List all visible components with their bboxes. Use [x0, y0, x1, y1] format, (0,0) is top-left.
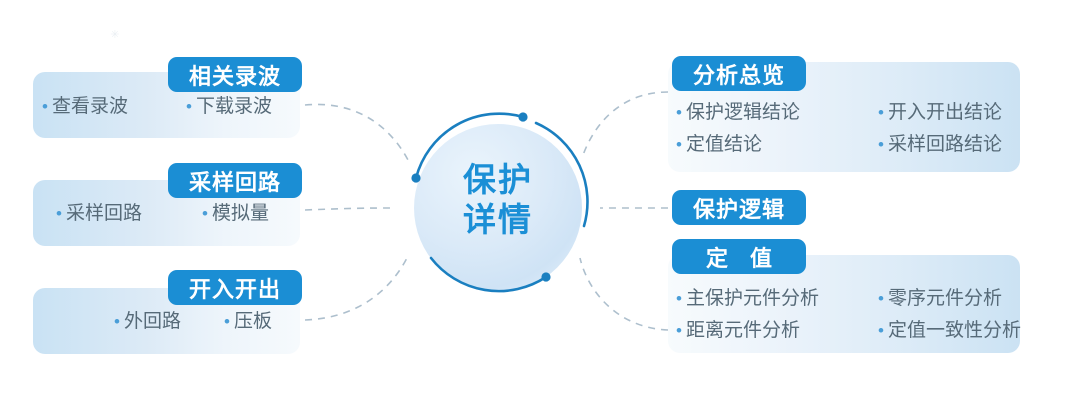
list-item-label: 压板 — [234, 307, 272, 337]
infographic-canvas: ✳ 保护 详情 — [0, 0, 1080, 417]
list-item[interactable]: • 开入开出结论 — [878, 98, 1026, 128]
list-item-label: 零序元件分析 — [888, 284, 1002, 314]
list-item[interactable]: • 压板 — [224, 307, 306, 337]
list-item[interactable]: • 距离元件分析 — [676, 316, 872, 346]
bullet-icon: • — [878, 284, 884, 314]
list-item[interactable]: • 采样回路结论 — [878, 130, 1026, 160]
list-item-label: 主保护元件分析 — [686, 284, 819, 314]
bullet-icon: • — [224, 307, 230, 337]
list-item[interactable]: • 下载录波 — [186, 92, 306, 122]
bullet-icon: • — [676, 98, 682, 128]
connector-left-middle — [305, 208, 392, 210]
badge-fenxi-zonglan[interactable]: 分析总览 — [672, 56, 806, 91]
list-item[interactable]: • 零序元件分析 — [878, 284, 1026, 314]
list-item[interactable]: • 保护逻辑结论 — [676, 98, 872, 128]
bullet-icon: • — [56, 199, 62, 229]
list-item[interactable]: • 模拟量 — [202, 199, 306, 229]
connector-left-top — [305, 104, 408, 160]
center-label-line1: 保护 — [396, 160, 600, 200]
list-item[interactable]: • 定值结论 — [676, 130, 872, 160]
list-item[interactable]: • 采样回路 — [56, 199, 196, 229]
list-item-label: 定值一致性分析 — [888, 316, 1021, 346]
badge-dingzhi[interactable]: 定 值 — [672, 239, 806, 274]
badge-kairu-kaichu[interactable]: 开入开出 — [168, 270, 302, 305]
ring-dot-top — [518, 112, 527, 121]
list-item[interactable]: • 定值一致性分析 — [878, 316, 1026, 346]
center-label: 保护 详情 — [396, 160, 600, 240]
bullet-icon: • — [186, 92, 192, 122]
list-item-label: 模拟量 — [212, 199, 269, 229]
bullet-icon: • — [114, 307, 120, 337]
bullet-icon: • — [676, 130, 682, 160]
list-item-label: 外回路 — [124, 307, 181, 337]
list-item-label: 采样回路 — [66, 199, 142, 229]
bullet-icon: • — [202, 199, 208, 229]
badge-xiangguan-lubo[interactable]: 相关录波 — [168, 57, 302, 92]
list-item-label: 距离元件分析 — [686, 316, 800, 346]
items-dingzhi: • 主保护元件分析 • 零序元件分析 • 距离元件分析 • 定值一致性分析 — [676, 284, 1020, 346]
decorative-mark-icon: ✳ — [110, 30, 120, 40]
center-hub[interactable]: 保护 详情 — [396, 106, 600, 310]
items-kairu-kaichu: • 外回路 • 压板 — [114, 307, 300, 337]
bullet-icon: • — [676, 316, 682, 346]
bullet-icon: • — [878, 98, 884, 128]
bullet-icon: • — [878, 316, 884, 346]
bullet-icon: • — [878, 130, 884, 160]
items-fenxi-zonglan: • 保护逻辑结论 • 开入开出结论 • 定值结论 • 采样回路结论 — [676, 98, 1020, 160]
list-item-label: 查看录波 — [52, 92, 128, 122]
ring-arc-bottom — [431, 258, 546, 291]
list-item[interactable]: • 主保护元件分析 — [676, 284, 872, 314]
bullet-icon: • — [676, 284, 682, 314]
list-item-label: 下载录波 — [196, 92, 272, 122]
list-item-label: 定值结论 — [686, 130, 762, 160]
connector-left-bottom — [305, 256, 408, 320]
center-label-line2: 详情 — [396, 200, 600, 240]
badge-caiyang-huilu[interactable]: 采样回路 — [168, 163, 302, 198]
list-item-label: 开入开出结论 — [888, 98, 1002, 128]
items-caiyang-huilu: • 采样回路 • 模拟量 — [56, 199, 300, 229]
bullet-icon: • — [42, 92, 48, 122]
list-item-label: 采样回路结论 — [888, 130, 1002, 160]
list-item[interactable]: • 外回路 — [114, 307, 218, 337]
ring-dot-bottom — [541, 272, 550, 281]
list-item-label: 保护逻辑结论 — [686, 98, 800, 128]
items-xiangguan-lubo: • 查看录波 • 下载录波 — [42, 92, 300, 122]
list-item[interactable]: • 查看录波 — [42, 92, 180, 122]
badge-baohu-luoji[interactable]: 保护逻辑 — [672, 190, 806, 225]
